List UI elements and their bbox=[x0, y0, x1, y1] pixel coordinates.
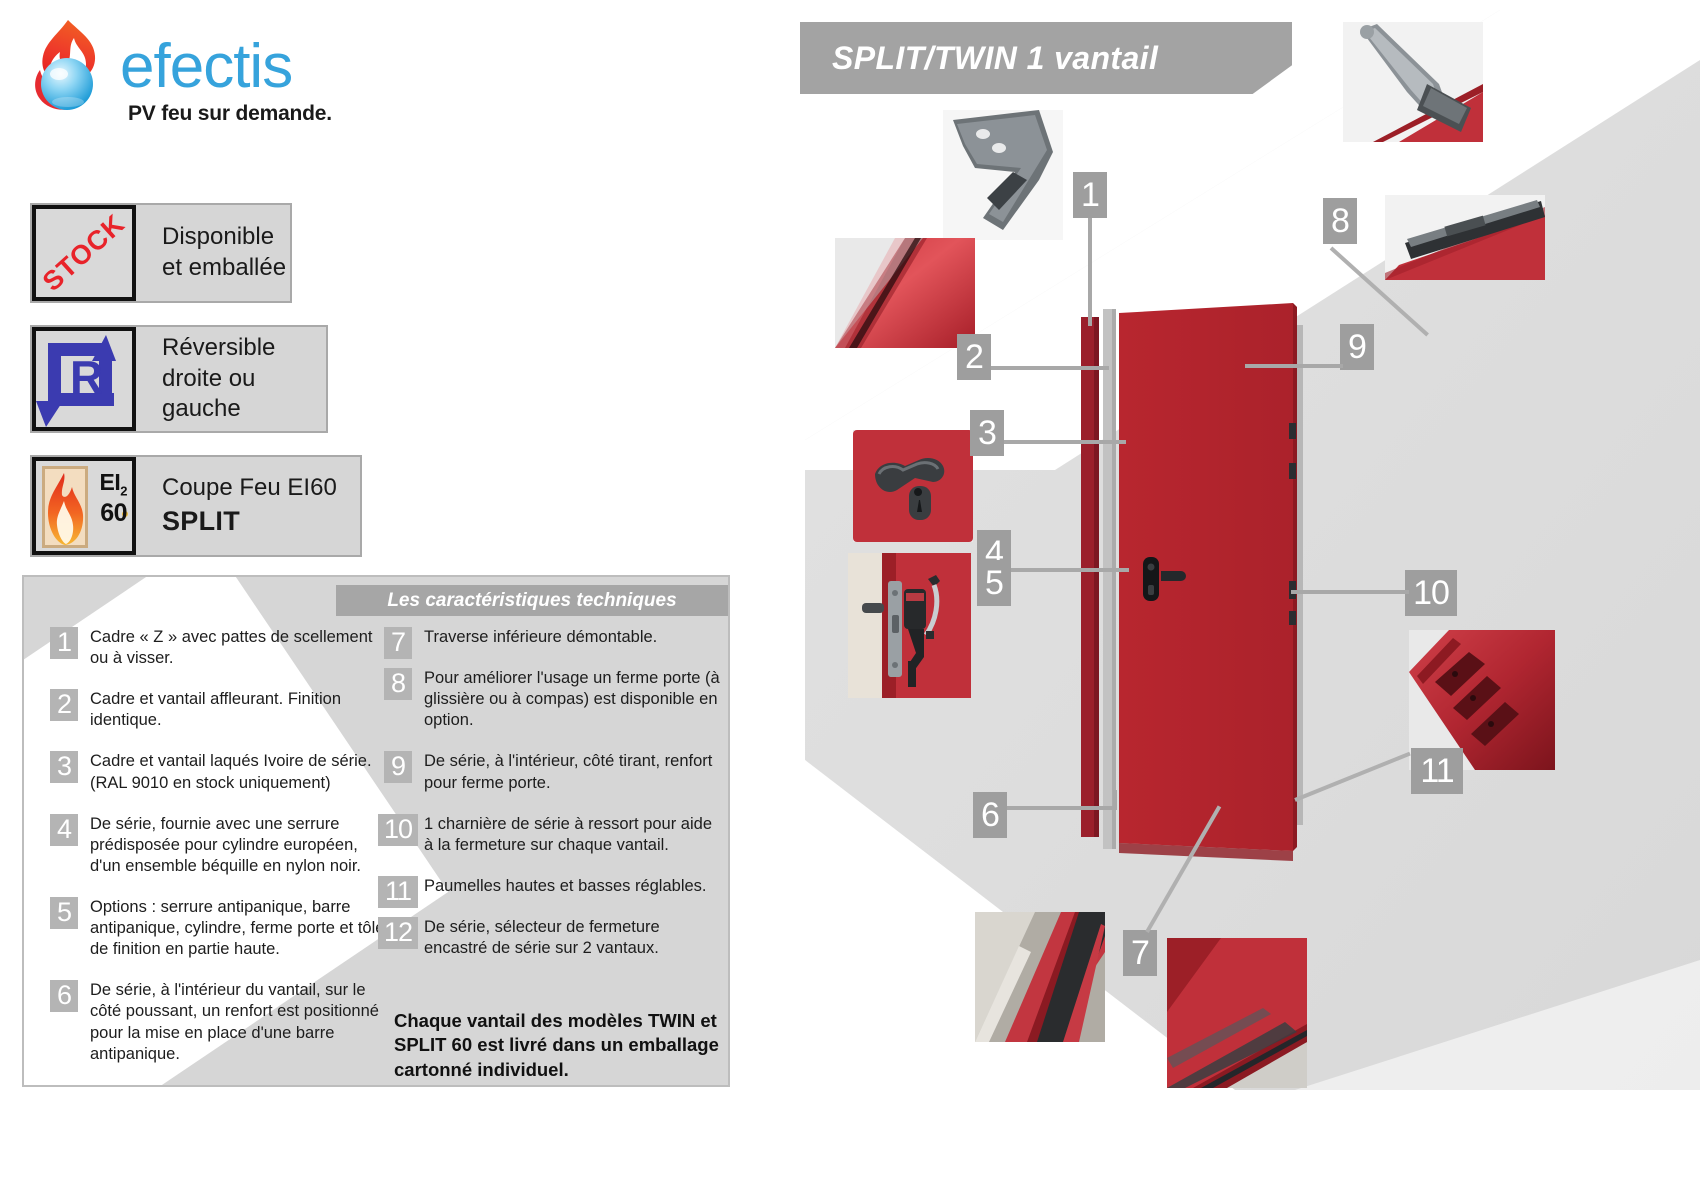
spec-item-1: 1 Cadre « Z » avec pattes de scellement … bbox=[42, 627, 390, 669]
spec-text-4: De série, fournie avec une serrure prédi… bbox=[90, 814, 390, 877]
feature-reversible-text: Réversible droite ou gauche bbox=[136, 333, 326, 425]
technical-characteristics-panel: Les caractéristiques techniques 1 Cadre … bbox=[22, 575, 730, 1087]
spec-item-9: 9 De série, à l'intérieur, côté tirant, … bbox=[376, 751, 720, 793]
bottom-rail-corner-photo bbox=[1167, 938, 1307, 1088]
feature-badge-stock: STOCK Disponible et emballée bbox=[30, 203, 292, 303]
door-closer-slide-photo bbox=[1385, 195, 1545, 280]
feature-fire-text: Coupe Feu EI60 SPLIT bbox=[136, 473, 337, 538]
callout-7: 7 bbox=[1123, 930, 1157, 976]
callout-9: 9 bbox=[1340, 324, 1374, 370]
spec-item-10: 10 1 charnière de série à ressort pour a… bbox=[376, 814, 720, 856]
spec-number-9: 9 bbox=[384, 751, 412, 783]
flame-water-drop-icon bbox=[28, 18, 106, 114]
spec-text-11: Paumelles hautes et basses réglables. bbox=[424, 876, 720, 897]
svg-text:R: R bbox=[70, 351, 103, 403]
callout-2-leader bbox=[991, 366, 1109, 370]
reversible-rotation-icon: R bbox=[32, 327, 136, 431]
spec-text-1: Cadre « Z » avec pattes de scellement ou… bbox=[90, 627, 390, 669]
spec-item-6: 6 De série, à l'intérieur du vantail, su… bbox=[42, 980, 390, 1064]
callout-6-leader-v bbox=[1113, 790, 1117, 808]
spec-item-12: 12 De série, sélecteur de fermeture enca… bbox=[376, 917, 720, 959]
feature-badge-reversible: R Réversible droite ou gauche bbox=[30, 325, 328, 433]
feature-stock-text: Disponible et emballée bbox=[136, 222, 286, 283]
feature-fire-line2: SPLIT bbox=[162, 504, 337, 539]
spec-number-8: 8 bbox=[384, 668, 412, 700]
callout-5: 5 bbox=[977, 560, 1011, 606]
spec-text-2: Cadre et vantail affleurant. Finition id… bbox=[90, 689, 390, 731]
specs-header-bar: Les caractéristiques techniques bbox=[336, 585, 728, 616]
spec-text-7: Traverse inférieure démontable. bbox=[424, 627, 720, 648]
fire-rating-minutes-label: 60 bbox=[100, 499, 127, 528]
spec-text-12: De série, sélecteur de fermeture encastr… bbox=[424, 917, 720, 959]
specs-left-column: 1 Cadre « Z » avec pattes de scellement … bbox=[42, 627, 390, 1085]
bottom-threshold-photo bbox=[975, 912, 1105, 1042]
spec-number-7: 7 bbox=[384, 627, 412, 659]
diagram-title-banner: SPLIT/TWIN 1 vantail bbox=[800, 22, 1292, 94]
callout-8: 8 bbox=[1323, 198, 1357, 244]
callout-3: 3 bbox=[970, 410, 1004, 456]
spec-number-4: 4 bbox=[50, 814, 78, 846]
callout-1: 1 bbox=[1073, 172, 1107, 218]
fire-door-rating-icon: EI2 60 bbox=[32, 457, 136, 555]
spec-text-6: De série, à l'intérieur du vantail, sur … bbox=[90, 980, 390, 1064]
spec-number-10: 10 bbox=[378, 814, 418, 846]
stock-stamp-icon: STOCK bbox=[32, 205, 136, 301]
callout-11: 11 bbox=[1411, 748, 1463, 794]
callout-3-leader bbox=[1004, 440, 1126, 444]
brand-name: efectis bbox=[120, 36, 292, 98]
spec-item-7: 7 Traverse inférieure démontable. bbox=[376, 627, 720, 648]
z-frame-profile-photo bbox=[943, 110, 1063, 240]
spec-number-1: 1 bbox=[50, 627, 78, 659]
spec-text-8: Pour améliorer l'usage un ferme porte (à… bbox=[424, 668, 720, 731]
spec-text-5: Options : serrure antipanique, barre ant… bbox=[90, 897, 390, 960]
spec-number-5: 5 bbox=[50, 897, 78, 929]
callout-10-leader bbox=[1291, 590, 1409, 594]
spec-number-6: 6 bbox=[50, 980, 78, 1012]
spec-number-12: 12 bbox=[378, 917, 418, 949]
callout-45-leader bbox=[1011, 568, 1129, 572]
feature-stock-line1: Disponible bbox=[162, 222, 286, 253]
antipanic-lock-photo bbox=[848, 553, 971, 698]
product-sheet-page: efectis PV feu sur demande. STOCK Dispon… bbox=[0, 0, 1700, 1200]
callout-6-leader-h bbox=[1007, 806, 1117, 810]
spec-text-3: Cadre et vantail laqués Ivoire de série.… bbox=[90, 751, 390, 793]
spec-number-2: 2 bbox=[50, 689, 78, 721]
product-diagram-column: SPLIT/TWIN 1 vantail bbox=[795, 0, 1700, 1200]
spec-item-11: 11 Paumelles hautes et basses réglables. bbox=[376, 876, 720, 897]
spec-item-8: 8 Pour améliorer l'usage un ferme porte … bbox=[376, 668, 720, 731]
packaging-footnote: Chaque vantail des modèles TWIN et SPLIT… bbox=[394, 1009, 724, 1082]
brand-tagline: PV feu sur demande. bbox=[128, 102, 332, 126]
spec-item-3: 3 Cadre et vantail laqués Ivoire de séri… bbox=[42, 751, 390, 793]
door-closer-arm-photo bbox=[1343, 22, 1483, 142]
callout-2: 2 bbox=[957, 334, 991, 380]
fire-rating-ei-label: EI2 bbox=[100, 471, 127, 498]
spec-number-11: 11 bbox=[378, 876, 418, 908]
spec-item-5: 5 Options : serrure antipanique, barre a… bbox=[42, 897, 390, 960]
stock-stamp-label: STOCK bbox=[37, 208, 131, 297]
feature-badge-fire-rating: EI2 60 Coupe Feu EI60 SPLIT bbox=[30, 455, 362, 557]
spec-item-2: 2 Cadre et vantail affleurant. Finition … bbox=[42, 689, 390, 731]
callout-6: 6 bbox=[973, 792, 1007, 838]
feature-reversible-line1: Réversible bbox=[162, 333, 326, 364]
callout-10: 10 bbox=[1405, 570, 1457, 616]
feature-stock-line2: et emballée bbox=[162, 253, 286, 284]
diagram-title: SPLIT/TWIN 1 vantail bbox=[800, 40, 1158, 77]
spec-text-9: De série, à l'intérieur, côté tirant, re… bbox=[424, 751, 720, 793]
feature-fire-line1: Coupe Feu EI60 bbox=[162, 473, 337, 504]
left-information-column: efectis PV feu sur demande. STOCK Dispon… bbox=[0, 0, 800, 1200]
specs-right-column: 7 Traverse inférieure démontable. 8 Pour… bbox=[376, 627, 720, 979]
frame-leaf-joint-photo bbox=[835, 238, 975, 348]
spec-item-4: 4 De série, fournie avec une serrure pré… bbox=[42, 814, 390, 877]
brand-logo-block: efectis PV feu sur demande. bbox=[28, 18, 388, 128]
spec-text-10: 1 charnière de série à ressort pour aide… bbox=[424, 814, 720, 856]
callout-1-leader bbox=[1088, 218, 1092, 326]
specs-header-title: Les caractéristiques techniques bbox=[387, 590, 676, 612]
black-lever-handle-photo bbox=[853, 430, 973, 542]
spec-number-3: 3 bbox=[50, 751, 78, 783]
feature-reversible-line2: droite ou gauche bbox=[162, 364, 326, 425]
callout-9-leader bbox=[1245, 364, 1343, 368]
